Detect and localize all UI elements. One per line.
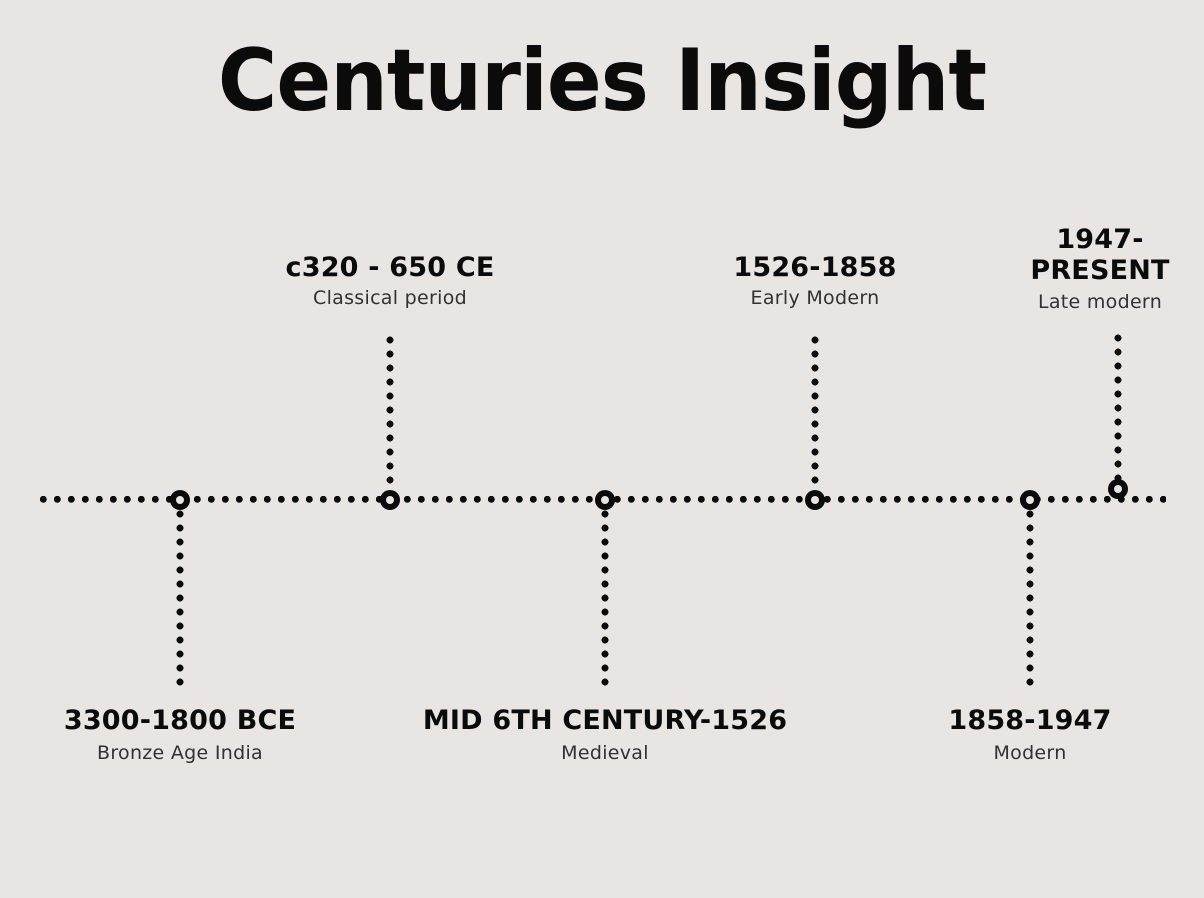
connector-medieval (601, 510, 609, 692)
event-label-early-modern: 1526-1858 Early Modern (690, 252, 940, 311)
event-subtitle-early-modern: Early Modern (690, 286, 940, 311)
event-label-late-modern: 1947-PRESENT Late modern (1005, 224, 1195, 314)
timeline-node-bronze-age-india[interactable] (170, 490, 190, 510)
connector-early-modern (811, 336, 819, 492)
event-subtitle-late-modern: Late modern (1005, 290, 1195, 315)
event-heading-classical-period: c320 - 650 CE (240, 252, 540, 283)
event-label-classical-period: c320 - 650 CE Classical period (240, 252, 540, 311)
timeline-node-late-modern[interactable] (1108, 479, 1128, 499)
event-subtitle-bronze-age-india: Bronze Age India (60, 741, 300, 766)
event-subtitle-classical-period: Classical period (240, 286, 540, 311)
event-subtitle-modern: Modern (905, 741, 1155, 766)
timeline-node-modern[interactable] (1020, 490, 1040, 510)
timeline-node-medieval[interactable] (595, 490, 615, 510)
event-label-medieval: MID 6TH CENTURY-1526 Medieval (410, 705, 800, 766)
event-heading-bronze-age-india: 3300-1800 BCE (60, 705, 300, 736)
event-subtitle-medieval: Medieval (410, 741, 800, 766)
event-label-modern: 1858-1947 Modern (905, 705, 1155, 766)
connector-classical-period (386, 336, 394, 492)
infographic-canvas: Centuries Insight c320 - 650 CE Classica… (0, 0, 1204, 898)
event-heading-medieval: MID 6TH CENTURY-1526 (410, 705, 800, 736)
page-title: Centuries Insight (36, 38, 1168, 124)
connector-late-modern (1114, 334, 1122, 480)
timeline-node-classical-period[interactable] (380, 490, 400, 510)
connector-bronze-age-india (176, 510, 184, 692)
event-label-bronze-age-india: 3300-1800 BCE Bronze Age India (60, 705, 300, 766)
connector-modern (1026, 510, 1034, 692)
event-heading-early-modern: 1526-1858 (690, 252, 940, 283)
event-heading-late-modern: 1947-PRESENT (1005, 224, 1195, 287)
timeline-node-early-modern[interactable] (805, 490, 825, 510)
event-heading-modern: 1858-1947 (905, 705, 1155, 736)
